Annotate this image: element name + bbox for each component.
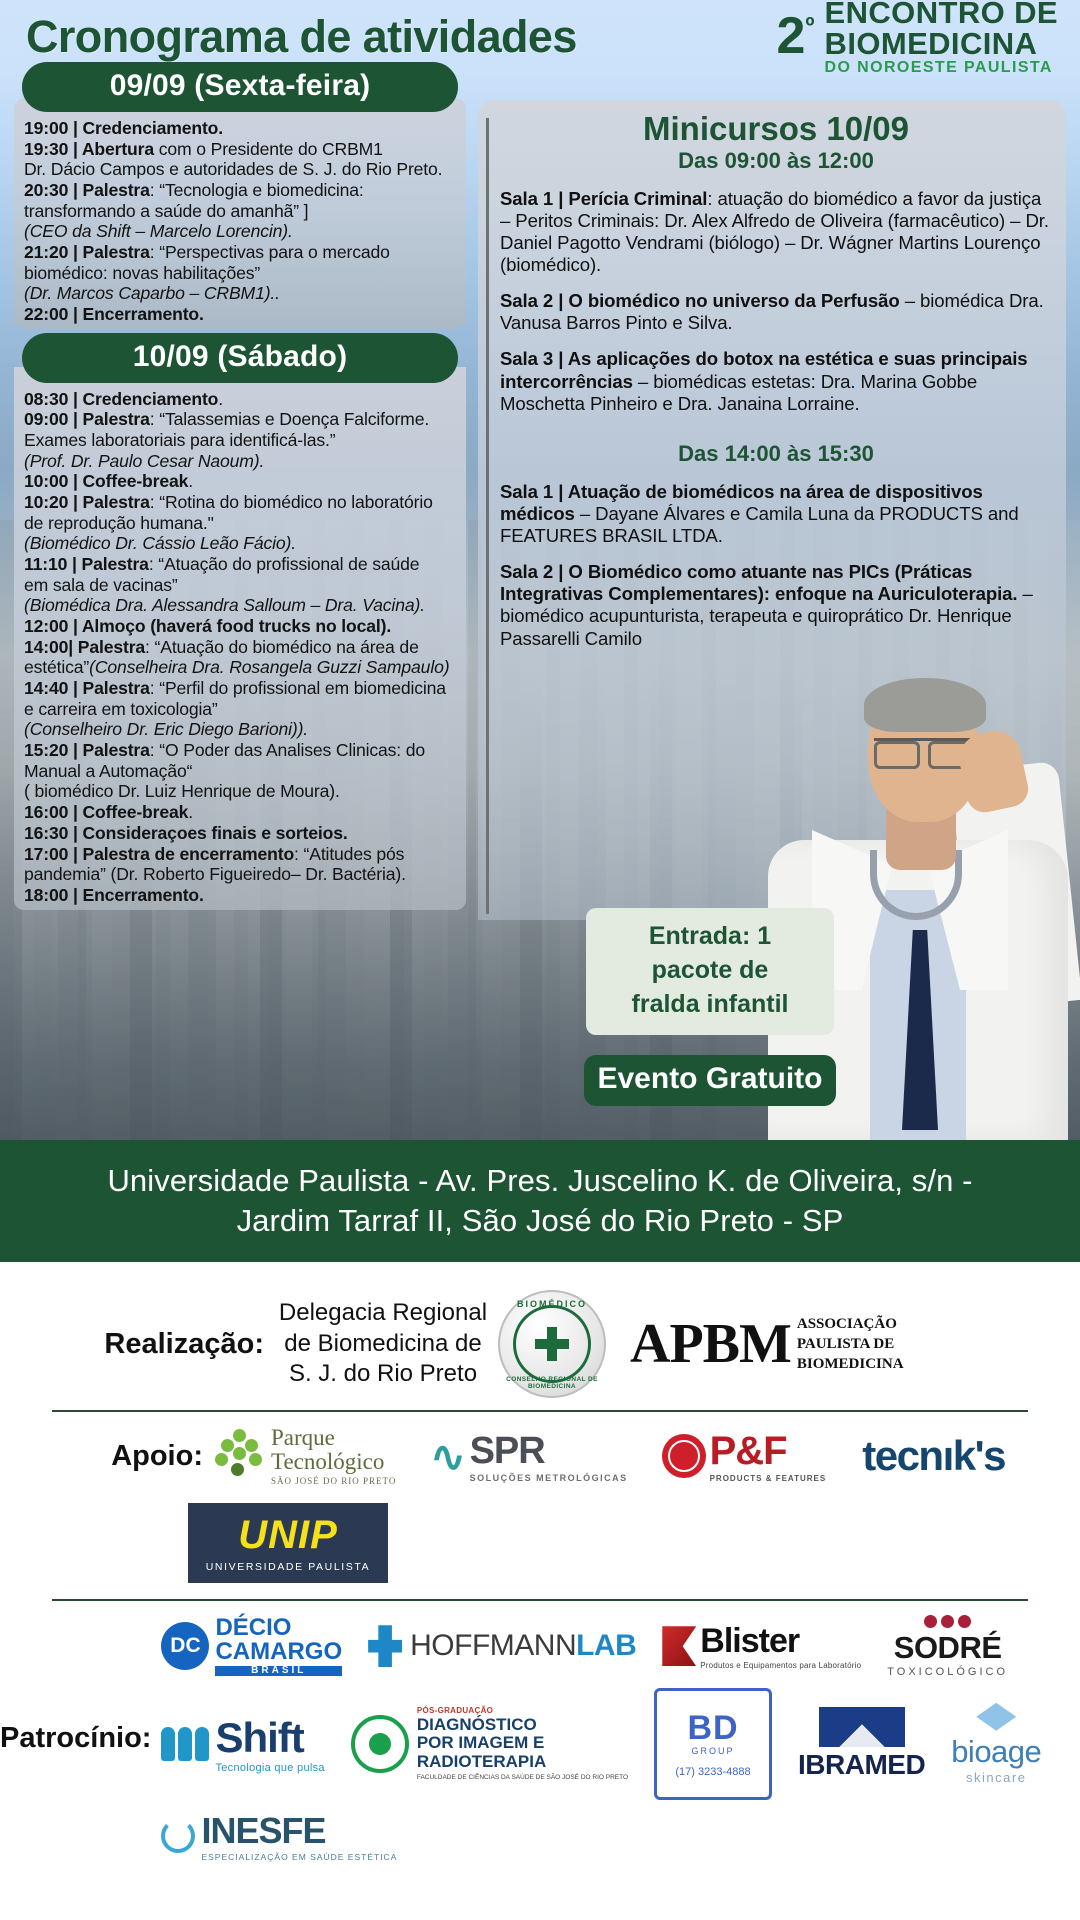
schedule-line: (Biomédico Dr. Cássio Leão Fácio).: [24, 533, 458, 554]
unip-logo: UNIP UNIVERSIDADE PAULISTA: [188, 1503, 388, 1583]
dc-badge-icon: DC: [161, 1622, 209, 1670]
schedule-line: 21:20 | Palestra: “Perspectivas para o m…: [24, 242, 458, 263]
unip-logo-wrap: UNIP UNIVERSIDADE PAULISTA: [188, 1503, 1080, 1583]
pf-subtitle: PRODUCTS & FEATURES: [710, 1474, 827, 1483]
minicursos-subtitle: Das 09:00 às 12:00: [500, 148, 1052, 174]
sodre-text: SODRÉ TOXICOLÓGICO: [887, 1630, 1008, 1678]
unip-subtitle: UNIVERSIDADE PAULISTA: [206, 1561, 371, 1573]
address-line-2: Jardim Tarraf II, São José do Rio Preto …: [237, 1203, 844, 1239]
address-line-1: Universidade Paulista - Av. Pres. Juscel…: [107, 1163, 972, 1199]
entry-fee-line2: pacote de: [592, 954, 828, 988]
unip-name: UNIP: [238, 1513, 338, 1558]
bioage-text: bioage skincare: [951, 1734, 1041, 1785]
schedule-line: e carreira em toxicologia”: [24, 699, 458, 720]
blister-name: Blister: [700, 1622, 799, 1660]
blister-mark-icon: [662, 1626, 696, 1666]
seal-top-text: BIOMÉDICO: [500, 1299, 604, 1309]
schedule-line: 10:00 | Coffee-break.: [24, 471, 458, 492]
apbm-letters: APBM: [630, 1312, 791, 1376]
apbm-sub-2: PAULISTA DE: [797, 1334, 904, 1354]
patrocinio-row: Patrocínio: DC DÉCIO CAMARGO BRASIL HOFF…: [0, 1609, 1080, 1862]
minicursos-title: Minicursos 10/09: [500, 112, 1052, 147]
minicurso-item: Sala 1 | Perícia Criminal: atuação do bi…: [500, 188, 1052, 277]
schedule-line: (CEO da Shift – Marcelo Lorencin).: [24, 221, 458, 242]
spr-subtitle: SOLUÇÕES METROLÓGICAS: [470, 1473, 628, 1483]
decio-camargo-logo: DC DÉCIO CAMARGO BRASIL: [161, 1616, 342, 1676]
leaf-icon: [976, 1703, 1016, 1731]
schedule-line: (Prof. Dr. Paulo Cesar Naoum).: [24, 451, 458, 472]
pos-graduacao-logo: PÓS-GRADUAÇÃO DIAGNÓSTICO POR IMAGEM E R…: [351, 1707, 628, 1781]
bioage-logo: bioage skincare: [951, 1703, 1041, 1785]
schedule-line: 22:00 | Encerramento.: [24, 304, 458, 325]
drb-logo-text: Delegacia Regional de Biomedicina de S. …: [278, 1298, 488, 1390]
schedule-line: 16:00 | Coffee-break.: [24, 802, 458, 823]
schedule-line: pandemia” (Dr. Roberto Figueiredo– Dr. B…: [24, 864, 458, 885]
venue-address: Universidade Paulista - Av. Pres. Juscel…: [0, 1140, 1080, 1262]
schedule-line: 19:30 | Abertura com o Presidente do CRB…: [24, 139, 458, 160]
schedule-line: (Biomédica Dra. Alessandra Salloum – Dra…: [24, 595, 458, 616]
spr-name: SPR SOLUÇÕES METROLÓGICAS: [470, 1430, 628, 1483]
schedule-line: de reprodução humana.": [24, 513, 458, 534]
schedule-line: Exames laboratoriais para identificá-las…: [24, 430, 458, 451]
apbm-sub-1: ASSOCIAÇÃO: [797, 1314, 904, 1334]
edition-ordinal: º: [805, 13, 814, 41]
schedule-line: 08:30 | Credenciamento.: [24, 389, 458, 410]
pos-sub: FACULDADE DE CIÊNCIAS DA SAÚDE DE SÃO JO…: [417, 1774, 628, 1781]
hoffmannlab-logo: HOFFMANNLAB: [368, 1625, 636, 1667]
decio-text: DÉCIO CAMARGO BRASIL: [215, 1616, 342, 1676]
drb-line3: S. J. do Rio Preto: [278, 1359, 488, 1390]
day1-list: 19:00 | Credenciamento.19:30 | Abertura …: [14, 98, 466, 329]
sodre-logo: SODRÉ TOXICOLÓGICO: [887, 1615, 1008, 1678]
atom-icon: [351, 1715, 409, 1773]
minicurso-text: Sala 2 | O biomédico no universo da Perf…: [500, 290, 1052, 334]
event-poster: Cronograma de atividades 2º ENCONTRO DE …: [0, 0, 1080, 1920]
pos-line1: DIAGNÓSTICO: [417, 1716, 628, 1735]
apbm-sub-3: BIOMEDICINA: [797, 1354, 904, 1374]
event-name-line2: BIOMEDICINA: [825, 28, 1058, 59]
event-edition-number: 2º: [776, 14, 814, 58]
minicursos-afternoon-list: Sala 1 | Atuação de biomédicos na área d…: [500, 481, 1052, 650]
apbm-subtitle: ASSOCIAÇÃO PAULISTA DE BIOMEDICINA: [797, 1314, 904, 1375]
schedule-line: em sala de vacinas”: [24, 575, 458, 596]
schedule-line: ( biomédico Dr. Luiz Henrique de Moura).: [24, 781, 458, 802]
ibramed-mark-icon: [819, 1707, 905, 1747]
pf-name: P&F PRODUCTS & FEATURES: [710, 1429, 827, 1483]
schedule-line: Manual a Automação“: [24, 761, 458, 782]
tree-icon: [215, 1429, 263, 1483]
schedule-line: 11:10 | Palestra: “Atuação do profission…: [24, 554, 458, 575]
patrocinio-label: Patrocínio:: [0, 1722, 161, 1755]
entry-fee-line3: fralda infantil: [592, 988, 828, 1022]
pf-name-text: P&F: [710, 1429, 787, 1473]
day1-header: 09/09 (Sexta-feira): [22, 62, 458, 112]
spr-logo: ∿ SPR SOLUÇÕES METROLÓGICAS: [430, 1430, 627, 1483]
day2-list: 08:30 | Credenciamento.09:00 | Palestra:…: [14, 367, 466, 910]
minicursos-morning-list: Sala 1 | Perícia Criminal: atuação do bi…: [500, 188, 1052, 415]
sponsors-section: Realização: Delegacia Regional de Biomed…: [0, 1262, 1080, 1920]
parque-line2: Tecnológico: [271, 1450, 396, 1474]
hoffmann-cross-icon: [368, 1625, 402, 1667]
schedule-line: transformando a saúde do amanhã” ]: [24, 201, 458, 222]
crbm-seal-icon: BIOMÉDICO CONSELHO REGIONAL DE BIOMEDICI…: [498, 1290, 606, 1398]
schedule-line: estética”(Conselheira Dra. Rosangela Guz…: [24, 657, 458, 678]
doctor-hair: [864, 678, 986, 732]
spr-mark-icon: ∿: [430, 1432, 461, 1481]
bd-sub: GROUP: [692, 1746, 735, 1756]
shift-sub: Tecnologia que pulsa: [215, 1762, 324, 1774]
seal-inner-ring: [513, 1305, 591, 1383]
schedule-line: 09:00 | Palestra: “Talassemias e Doença …: [24, 409, 458, 430]
shift-text: Shift Tecnologia que pulsa: [215, 1714, 324, 1774]
schedule-line: 19:00 | Credenciamento.: [24, 118, 458, 139]
free-event-badge: Evento Gratuito: [584, 1055, 836, 1106]
pos-line2: POR IMAGEM E: [417, 1734, 628, 1753]
event-name-line1: ENCONTRO DE: [825, 0, 1058, 28]
event-name-block: ENCONTRO DE BIOMEDICINA DO NOROESTE PAUL…: [825, 0, 1058, 76]
parque-line1: Parque: [271, 1426, 396, 1450]
schedule-line: 12:00 | Almoço (haverá food trucks no lo…: [24, 616, 458, 637]
schedule-line: 14:00| Palestra: “Atuação do biomédico n…: [24, 637, 458, 658]
schedule-line: biomédico: novas habilitações”: [24, 263, 458, 284]
shift-logo: Shift Tecnologia que pulsa: [161, 1714, 324, 1774]
sponsors-divider-2: [52, 1599, 1028, 1601]
pos-line3: RADIOTERAPIA: [417, 1753, 628, 1772]
schedule-line: 16:30 | Consideraçoes finais e sorteios.: [24, 823, 458, 844]
inesfe-name: INESFE: [201, 1810, 325, 1851]
page-title: Cronograma de atividades: [26, 14, 577, 59]
sodre-name: SODRÉ: [894, 1630, 1002, 1665]
event-logo: 2º ENCONTRO DE BIOMEDICINA DO NOROESTE P…: [776, 0, 1058, 76]
inesfe-logo: INESFE ESPECIALIZAÇÃO EM SAÚDE ESTÉTICA: [161, 1810, 397, 1862]
hoffmann-part-a: HOFFMANN: [410, 1629, 576, 1662]
decio-line1: DÉCIO: [215, 1616, 342, 1640]
patrocinio-logos: DC DÉCIO CAMARGO BRASIL HOFFMANNLAB: [161, 1615, 1080, 1862]
ibramed-logo: IBRAMED: [798, 1707, 925, 1781]
apoio-label: Apoio:: [0, 1440, 215, 1473]
hoffmann-text: HOFFMANNLAB: [410, 1629, 636, 1663]
seal-bottom-text: CONSELHO REGIONAL DE BIOMEDICINA: [500, 1376, 604, 1390]
schedule-line: 20:30 | Palestra: “Tecnologia e biomedic…: [24, 180, 458, 201]
minicurso-item: Sala 2 | O Biomédico como atuante nas PI…: [500, 561, 1052, 650]
parque-text: Parque Tecnológico SÃO JOSÉ DO RIO PRETO: [271, 1426, 396, 1487]
people-icon: [161, 1727, 209, 1761]
schedule-line: (Dr. Marcos Caparbo – CRBM1)..: [24, 283, 458, 304]
bioage-sub: skincare: [951, 1770, 1041, 1785]
minicurso-text: Sala 3 | As aplicações do botox na estét…: [500, 348, 1052, 414]
realizacao-row: Realização: Delegacia Regional de Biomed…: [0, 1274, 1080, 1402]
schedule-line: Dr. Dácio Campos e autoridades de S. J. …: [24, 159, 458, 180]
apoio-row: Apoio: Parque Tecnológico SÃO JOSÉ DO RI…: [0, 1420, 1080, 1493]
bd-group-logo: BD GROUP (17) 3233-4888: [654, 1688, 772, 1800]
bioage-name: bioage: [951, 1734, 1041, 1769]
schedule-line: 17:00 | Palestra de encerramento: “Atitu…: [24, 844, 458, 865]
drb-line1: Delegacia Regional: [278, 1298, 488, 1329]
shift-name: Shift: [215, 1714, 303, 1761]
minicurso-item: Sala 1 | Atuação de biomédicos na área d…: [500, 481, 1052, 547]
decio-sub: BRASIL: [215, 1666, 342, 1676]
pf-logo: P&F PRODUCTS & FEATURES: [662, 1429, 827, 1483]
realizacao-label: Realização:: [0, 1328, 278, 1361]
schedule-line: 10:20 | Palestra: “Rotina do biomédico n…: [24, 492, 458, 513]
spr-name-text: SPR: [470, 1430, 545, 1472]
parque-tecnologico-logo: Parque Tecnológico SÃO JOSÉ DO RIO PRETO: [215, 1426, 396, 1487]
minicurso-text: Sala 1 | Perícia Criminal: atuação do bi…: [500, 188, 1052, 277]
schedule-line: (Conselheiro Dr. Eric Diego Barioni)).: [24, 719, 458, 740]
schedule-line: 18:00 | Encerramento.: [24, 885, 458, 906]
minicurso-item: Sala 3 | As aplicações do botox na estét…: [500, 348, 1052, 414]
schedule-line: 15:20 | Palestra: “O Poder das Analises …: [24, 740, 458, 761]
schedule-column: 09/09 (Sexta-feira) 19:00 | Credenciamen…: [14, 62, 466, 1134]
decio-line2: CAMARGO: [215, 1640, 342, 1664]
inesfe-text: INESFE ESPECIALIZAÇÃO EM SAÚDE ESTÉTICA: [201, 1810, 397, 1862]
pos-text: PÓS-GRADUAÇÃO DIAGNÓSTICO POR IMAGEM E R…: [417, 1707, 628, 1781]
inesfe-circle-icon: [161, 1819, 195, 1853]
bd-name: BD: [687, 1709, 738, 1748]
globe-icon: [662, 1434, 706, 1478]
minicursos-afternoon-time: Das 14:00 às 15:30: [500, 441, 1052, 467]
entry-fee-box: Entrada: 1 pacote de fralda infantil: [586, 908, 834, 1035]
bd-phone: (17) 3233-4888: [675, 1766, 750, 1778]
hoffmann-part-b: LAB: [576, 1629, 636, 1662]
entry-fee-line1: Entrada: 1: [592, 920, 828, 954]
day2-header: 10/09 (Sábado): [22, 333, 458, 383]
minicurso-item: Sala 2 | O biomédico no universo da Perf…: [500, 290, 1052, 334]
blister-sub: Produtos e Equipamentos para Laboratório: [700, 1661, 861, 1670]
ibramed-name: IBRAMED: [798, 1749, 925, 1781]
drb-line2: de Biomedicina de: [278, 1329, 488, 1360]
blister-logo: Blister Produtos e Equipamentos para Lab…: [662, 1622, 861, 1670]
minicurso-text: Sala 2 | O Biomédico como atuante nas PI…: [500, 561, 1052, 650]
minicurso-text: Sala 1 | Atuação de biomédicos na área d…: [500, 481, 1052, 547]
medical-cross-icon: [535, 1327, 569, 1361]
poster-hero: Cronograma de atividades 2º ENCONTRO DE …: [0, 0, 1080, 1140]
inesfe-sub: ESPECIALIZAÇÃO EM SAÚDE ESTÉTICA: [201, 1852, 397, 1862]
sponsors-divider-1: [52, 1410, 1028, 1412]
event-name-line3: DO NOROESTE PAULISTA: [825, 60, 1058, 76]
apbm-logo: APBM ASSOCIAÇÃO PAULISTA DE BIOMEDICINA: [630, 1312, 904, 1376]
tecniks-logo: tecnık's: [862, 1432, 1005, 1480]
parque-sub: SÃO JOSÉ DO RIO PRETO: [271, 1477, 396, 1486]
sodre-sub: TOXICOLÓGICO: [887, 1666, 1008, 1678]
schedule-line: 14:40 | Palestra: “Perfil do profissiona…: [24, 678, 458, 699]
blister-text: Blister Produtos e Equipamentos para Lab…: [700, 1622, 861, 1670]
sodre-dots-icon: [887, 1615, 1008, 1628]
edition-digit: 2: [776, 7, 805, 65]
